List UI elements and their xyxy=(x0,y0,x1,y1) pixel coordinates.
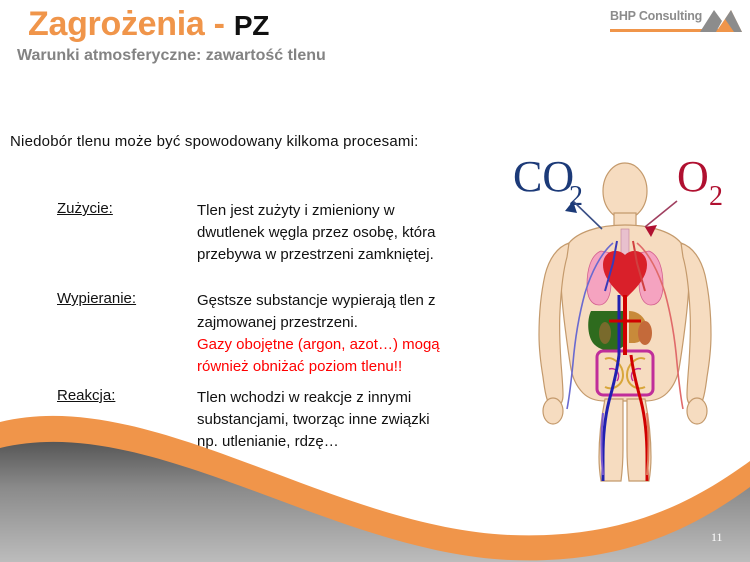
brand-logo: BHP Consulting xyxy=(610,8,742,42)
title-suffix: PZ xyxy=(234,10,269,41)
title-dash: - xyxy=(204,5,233,43)
svg-text:2: 2 xyxy=(709,181,723,212)
slide: Zagrożenia - PZ Warunki atmosferyczne: z… xyxy=(0,0,750,562)
bottom-wave-decoration xyxy=(0,387,750,562)
block-label: Zużycie: xyxy=(57,200,113,217)
block-line-alert: Gazy obojętne (argon, azot…) mogą xyxy=(197,334,527,356)
mountain-chevron-icon xyxy=(700,8,742,32)
o2-label: O 2 xyxy=(645,152,723,237)
block-line: Gęstsze substancje wypierają tlen z xyxy=(197,290,527,312)
block-line: Tlen jest zużyty i zmieniony w xyxy=(197,200,527,222)
block-line: zajmowanej przestrzeni. xyxy=(197,312,527,334)
block-line-alert: również obniżać poziom tlenu!! xyxy=(197,356,527,378)
page-number: 11 xyxy=(711,530,723,545)
svg-text:O: O xyxy=(677,152,709,201)
block-line: dwutlenek węgla przez osobę, która xyxy=(197,222,527,244)
block-label: Wypieranie: xyxy=(57,290,136,307)
title-main: Zagrożenia xyxy=(28,5,204,43)
block-body: Tlen jest zużyty i zmieniony w dwutlenek… xyxy=(197,200,527,266)
block-line: przebywa w przestrzeni zamkniętej. xyxy=(197,244,527,266)
page-title: Zagrożenia - PZ xyxy=(28,4,269,46)
co2-label: CO 2 xyxy=(513,152,602,229)
page-subtitle: Warunki atmosferyczne: zawartość tlenu xyxy=(17,47,326,65)
block-body: Gęstsze substancje wypierają tlen z zajm… xyxy=(197,290,527,378)
svg-text:CO: CO xyxy=(513,152,574,201)
intro-text: Niedobór tlenu może być spowodowany kilk… xyxy=(10,133,419,150)
brand-logo-text: BHP Consulting xyxy=(610,9,702,23)
